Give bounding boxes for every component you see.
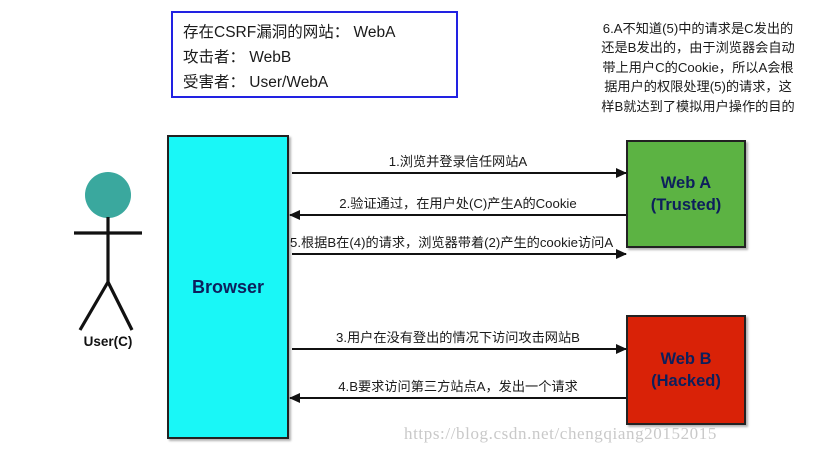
flow-label-4: 4.B要求访问第三方站点A，发出一个请求 — [292, 376, 624, 395]
web-a-node-label: Web A (Trusted) — [651, 172, 722, 216]
legend-line-vulnerable-site: 存在CSRF漏洞的网站： WebA — [183, 20, 456, 45]
step6-annotation: 6.A不知道(5)中的请求是C发出的 还是B发出的，由于浏览器会自动 带上用户C… — [566, 19, 830, 116]
legend-box: 存在CSRF漏洞的网站： WebA 攻击者： WebB 受害者： User/We… — [171, 11, 458, 98]
web-b-node[interactable]: Web B (Hacked) — [626, 315, 746, 425]
flow-arrow-4 — [290, 397, 626, 399]
flow-label-2: 2.验证通过，在用户处(C)产生A的Cookie — [292, 193, 624, 212]
web-a-label-line2: (Trusted) — [651, 196, 722, 214]
browser-node-label: Browser — [192, 277, 264, 298]
flow-label-1: 1.浏览并登录信任网站A — [292, 151, 624, 170]
user-label: User(C) — [60, 334, 156, 349]
legend-line-attacker: 攻击者： WebB — [183, 45, 456, 70]
flow-arrow-1 — [292, 172, 626, 174]
annotation-line-2: 还是B发出的，由于浏览器会自动 — [566, 38, 830, 57]
annotation-line-5: 样B就达到了模拟用户操作的目的 — [566, 97, 830, 116]
csrf-diagram-canvas: 存在CSRF漏洞的网站： WebA 攻击者： WebB 受害者： User/We… — [0, 0, 832, 456]
web-b-node-label: Web B (Hacked) — [651, 348, 721, 392]
annotation-line-4: 据用户的权限处理(5)的请求，这 — [566, 77, 830, 96]
web-b-label-line1: Web B — [660, 350, 711, 368]
annotation-line-3: 带上用户C的Cookie，所以A会根 — [566, 58, 830, 77]
flow-arrow-3 — [292, 348, 626, 350]
web-b-label-line2: (Hacked) — [651, 372, 721, 390]
watermark: https://blog.csdn.net/chengqiang20152015 — [404, 424, 717, 444]
user-stick-figure-icon — [60, 170, 156, 345]
legend-line-victim: 受害者： User/WebA — [183, 70, 456, 95]
flow-label-5: 5.根据B在(4)的请求，浏览器带着(2)产生的cookie访问A — [290, 232, 648, 251]
flow-arrow-2 — [290, 214, 626, 216]
flow-arrow-5 — [292, 253, 626, 255]
annotation-line-1: 6.A不知道(5)中的请求是C发出的 — [566, 19, 830, 38]
web-a-label-line1: Web A — [661, 174, 711, 192]
browser-node[interactable]: Browser — [167, 135, 289, 439]
flow-label-3: 3.用户在没有登出的情况下访问攻击网站B — [292, 327, 624, 346]
